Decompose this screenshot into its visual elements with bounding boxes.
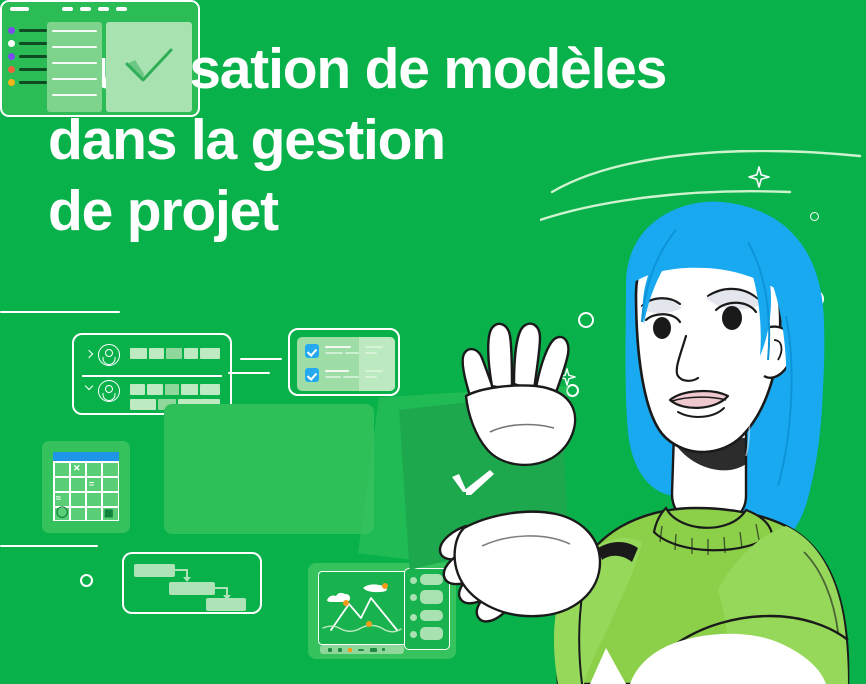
decor-connector-dash-2 [228,372,270,374]
checklist-item-2-meta [365,370,383,372]
project-view-header [0,0,866,19]
nav-dot-1 [8,27,15,34]
spreadsheet-cell-mark: ≈ [56,494,61,503]
task-line [52,46,97,48]
whiteboard-item-dot [410,577,417,584]
whiteboard-marker-dot[interactable] [343,600,349,606]
whiteboard-item-dot [410,594,417,601]
grid-icon[interactable] [370,648,377,652]
spreadsheet-grid: ✕ = ≈ ◯ ▦ [53,461,119,521]
whiteboard-toolbar[interactable] [320,645,404,654]
task-line [52,62,97,64]
plus-icon[interactable] [382,648,385,651]
shape-icon[interactable] [338,648,342,652]
whiteboard-marker-dot[interactable] [366,621,372,627]
gantt-task-bar[interactable] [169,582,215,595]
line-icon[interactable] [358,649,364,651]
gantt-card[interactable] [122,552,262,614]
whiteboard-drawing [319,572,407,644]
gantt-task-bar[interactable] [134,564,175,577]
users-row-2-segment [165,384,179,395]
users-row-1-segment [184,348,198,359]
task-line [52,78,97,80]
check-mark-icon [123,48,175,86]
project-view-nav-dash[interactable] [116,7,127,11]
whiteboard-item-dot [410,631,417,638]
nav-dot-2 [8,40,15,47]
checkbox-checked-1[interactable] [305,344,319,358]
users-row-1-segment [200,348,220,359]
task-line [52,94,97,96]
nav-dot-4 [8,66,15,73]
users-row-2-segment [181,384,198,395]
users-row-2-segment [200,384,220,395]
preview-column[interactable] [106,22,192,112]
project-view-panel[interactable] [0,0,200,117]
nav-line-3 [19,55,47,58]
spreadsheet-cell-mark: ◯ [56,508,68,517]
checklist-item-1-line [345,352,359,354]
users-row-1-segment [130,348,147,359]
spreadsheet-header-bar [53,452,119,461]
main-panel-shadow [164,404,374,534]
checklist-card[interactable] [288,328,400,396]
checklist-item-2-line [325,376,341,378]
decor-rule-line-bottom [0,545,98,547]
checklist-item-2-meta [365,376,377,378]
banner-canvas: L'utilisation de modèles dans la gestion… [0,0,866,684]
whiteboard-canvas[interactable] [318,571,408,645]
project-view-nav-dash[interactable] [80,7,91,11]
nav-line-2 [19,42,47,45]
users-row-2-segment [147,384,163,395]
checklist-item-2-line [325,370,349,372]
sparkle-icon-top [748,166,770,188]
chevron-right-icon[interactable] [85,350,93,358]
decor-circle-5 [80,574,93,587]
decor-rule-line-top [0,311,120,313]
pen-icon[interactable] [328,648,332,652]
nav-line-4 [19,68,47,71]
gantt-dependency-arrow [175,569,193,583]
chevron-down-icon[interactable] [85,382,93,390]
users-card[interactable] [72,333,232,415]
woman-illustration [430,196,866,684]
users-row-1-segment [149,348,164,359]
spreadsheet-card[interactable]: ✕ = ≈ ◯ ▦ [42,441,130,533]
project-view-nav-dash[interactable] [98,7,109,11]
project-view-logo [10,7,29,11]
users-row-2-segment [130,384,145,395]
users-row-1-segment [166,348,182,359]
sticky-icon[interactable] [348,648,352,652]
task-list-column[interactable] [47,22,102,112]
spreadsheet-cell-mark: = [89,480,94,489]
task-line [52,30,97,32]
spreadsheet-cell-mark: ✕ [73,464,81,473]
checklist-item-1-meta [365,352,377,354]
whiteboard-marker-dot[interactable] [382,583,388,589]
users-subrow-segment [130,399,156,410]
checkbox-checked-2[interactable] [305,368,319,382]
avatar-icon-row-1 [98,344,120,366]
users-card-divider [82,375,222,377]
nav-line-1 [19,29,47,32]
nav-dot-5 [8,79,15,86]
decor-connector-dash-1 [240,358,282,360]
checklist-item-1-line [325,352,343,354]
spreadsheet-cell-mark: ▦ [104,509,113,518]
checklist-card-surface [297,337,395,391]
project-view-nav-dash[interactable] [62,7,73,11]
gantt-task-bar[interactable] [206,598,246,611]
checklist-item-2-line [343,376,359,378]
whiteboard-item-dot [410,614,417,621]
checklist-item-1-line [325,346,351,348]
avatar-icon-row-2 [98,380,120,402]
checklist-item-1-meta [365,346,383,348]
nav-line-5 [19,81,47,84]
nav-dot-3 [8,53,15,60]
